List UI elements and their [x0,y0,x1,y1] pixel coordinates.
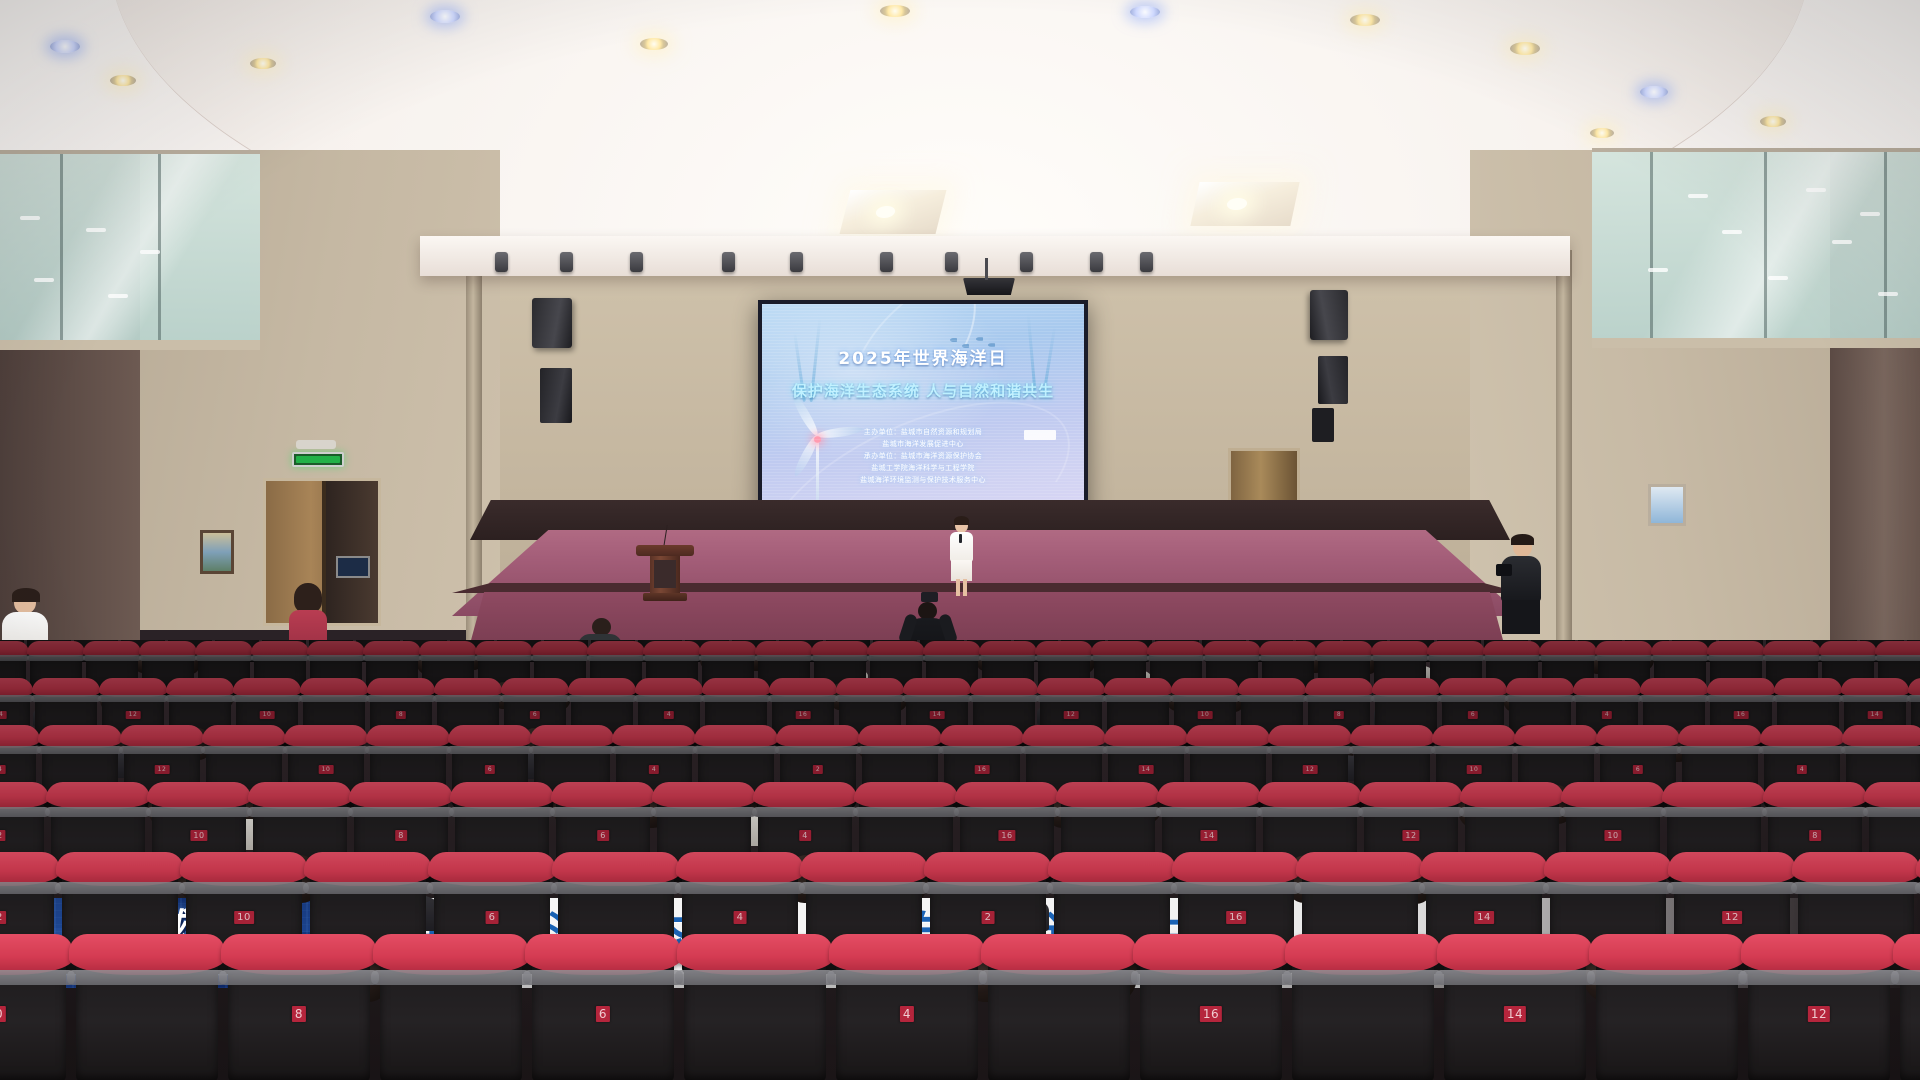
ceiling-tray-light [1190,182,1299,226]
seat-number-label: 4 [900,1006,914,1022]
screen-seaweed-decor [1027,314,1037,390]
auditorium-seat [380,946,522,1080]
screen-logo-badge [1024,430,1056,440]
seat-number-label: 12 [126,711,141,719]
auditorium-seat: 6 [532,946,674,1080]
screen-turbine-blade [790,393,821,437]
stage-fascia [420,236,1570,276]
wall-pilaster-right [1556,250,1572,650]
projector-mount [985,258,988,280]
auditorium-seat [1900,946,1920,1080]
seat-number-label: 4 [734,911,747,924]
auditorium-seat: 16 [1140,946,1282,1080]
seat-number-label: 10 [260,711,275,719]
ceiling-downlight [1760,116,1786,127]
stage-light-fixture [722,252,735,272]
seat-number-label: 14 [1139,765,1154,774]
seat-number-label: 4 [664,711,674,719]
auditorium-seat [988,946,1130,1080]
seat-number-label: 10 [1467,765,1482,774]
auditorium-seat: 12 [1748,946,1890,1080]
pa-speaker-right-lower [1312,408,1334,442]
seat-number-label: 6 [597,830,609,841]
seat-number-label: 14 [0,765,5,774]
seat-number-label: 8 [396,711,406,719]
exit-sign-icon [292,452,344,467]
auditorium-seat [1292,946,1434,1080]
ceiling-downlight [1130,6,1160,18]
seat-number-label: 10 [190,830,207,841]
auditorium-seat: 8 [228,946,370,1080]
audience-seating: 1412108641614121086416141412106421614121… [0,640,1920,1080]
screen-seaweed-decor [1043,326,1056,392]
seat-number-label: 12 [155,765,170,774]
balcony-left [0,150,260,350]
stage-edge [452,583,1522,593]
podium-base [643,593,687,601]
stage-light-fixture [630,252,643,272]
seat-number-label: 16 [1200,1006,1222,1022]
broadcast-frame: (function(){ const ceil = document.query… [0,0,1920,1080]
stage-light-fixture [790,252,803,272]
screen-wave-decor [762,361,1084,524]
camera-icon [921,592,938,602]
screen-organizer-line: 承办单位：盐城市海洋资源保护协会 [762,450,1084,462]
ceiling-downlight [880,5,910,17]
seat-number-label: 16 [796,711,811,719]
screen-wave-decor [812,304,1084,524]
screen-turbine-blade [791,433,821,478]
screen-fish-decor [950,338,957,342]
seat-number-label: 8 [395,830,407,841]
pa-speaker-right-upper [1310,290,1348,340]
seat-number-label: 12 [1064,711,1079,719]
seat-number-label: 2 [982,911,995,924]
ceiling-projector [963,278,1015,295]
seat-number-label: 6 [1633,765,1643,774]
seat-number-label: 4 [1797,765,1807,774]
auditorium-seat: 4 [836,946,978,1080]
seat-number-label: 12 [1402,830,1419,841]
wall-picture-left [200,530,234,574]
screen-title: 2025年世界海洋日 [762,344,1084,369]
screen-seaweed-decor [793,332,806,402]
seat-number-label: 4 [799,830,811,841]
screen-turbine-blade [816,425,863,440]
stage-light-fixture [495,252,508,272]
screen-fish-decor [976,337,983,341]
stage-light-fixture [880,252,893,272]
screen-wave-decor [762,304,1008,471]
seat-number-label: 16 [1734,711,1749,719]
ceiling-downlight [50,40,80,53]
screen-subtitle: 保护海洋生态系统 人与自然和谐共生 [762,380,1084,401]
auditorium-scene: (function(){ const ceil = document.query… [0,0,1920,1080]
seat-number-label: 4 [649,765,659,774]
seat-number-label: 6 [485,765,495,774]
seat-number-label: 12 [1808,1006,1830,1022]
seat-number-label: 4 [1602,711,1612,719]
screen-organizer-list: 主办单位：盐城市自然资源和规划局 盐城市海洋发展促进中心 承办单位：盐城市海洋资… [762,426,1084,486]
podium-panel [654,560,676,588]
screen-organizer-line: 盐城海洋环境监测与保护技术服务中心 [762,474,1084,486]
auditorium-seat [76,946,218,1080]
handheld-microphone [959,534,962,543]
seat-number-label: 14 [930,711,945,719]
seat-number-label: 8 [292,1006,306,1022]
camera-icon [1496,564,1512,576]
pa-speaker-left-upper [532,298,572,348]
stage-light-fixture [945,252,958,272]
ceiling-downlight [1640,86,1668,98]
attendee-right-photographer [1496,538,1546,634]
screen-fish-decor [962,344,969,348]
stage-light-fixture [1140,252,1153,272]
auditorium-seat [684,946,826,1080]
screen-organizer-line: 主办单位：盐城市自然资源和规划局 [762,426,1084,438]
screen-turbine-hub [814,436,821,443]
seat-number-label: 12 [0,830,6,841]
stage-light-fixture [1090,252,1103,272]
auditorium-seat: 10 [0,946,66,1080]
ceiling-downlight [1350,14,1380,26]
seat-number-label: 14 [1504,1006,1526,1022]
screen-organizer-line: 盐城市海洋发展促进中心 [762,438,1084,450]
ceiling-downlight [430,10,460,23]
ceiling-downlight [1510,42,1540,55]
seat-number-label: 10 [1198,711,1213,719]
projection-screen: 2025年世界海洋日 保护海洋生态系统 人与自然和谐共生 主办单位：盐城市自然资… [758,300,1088,528]
seat-number-label: 8 [1809,830,1821,841]
ceiling-downlight [110,75,136,86]
wall-monitor [336,556,370,578]
auditorium-seat [1596,946,1738,1080]
seat-number-label: 14 [0,711,6,719]
seat-number-label: 6 [530,711,540,719]
balcony-right [1592,148,1920,348]
seat-number-label: 12 [1303,765,1318,774]
seat-number-label: 12 [1722,911,1742,924]
seat-number-label: 16 [975,765,990,774]
wall-picture-right [1648,484,1686,526]
stage-speaker-person [944,518,978,600]
pa-speaker-right-mid [1318,356,1348,404]
seat-number-label: 6 [1468,711,1478,719]
projection-screen-surface: 2025年世界海洋日 保护海洋生态系统 人与自然和谐共生 主办单位：盐城市自然资… [762,304,1084,524]
ceiling-downlight [640,38,668,50]
seat-number-label: 6 [486,911,499,924]
seat-number-label: 6 [596,1006,610,1022]
seat-number-label: 10 [1604,830,1621,841]
pa-speaker-left-lower [540,368,572,423]
seat-number-label: 10 [234,911,254,924]
seat-number-label: 14 [1200,830,1217,841]
stage-light-fixture [560,252,573,272]
seat-number-label: 14 [1868,711,1883,719]
seat-number-label: 16 [1226,911,1246,924]
stage-light-fixture [1020,252,1033,272]
seat-number-label: 2 [813,765,823,774]
podium-top [636,545,694,556]
emergency-light [296,440,336,449]
seat-number-label: 14 [1474,911,1494,924]
seat-number-label: 8 [1334,711,1344,719]
screen-fish-decor [988,343,995,347]
auditorium-seat: 14 [1444,946,1586,1080]
screen-seaweed-decor [810,318,822,402]
seat-number-label: 10 [319,765,334,774]
ceiling-downlight [250,58,276,69]
screen-organizer-line: 盐城工学院海洋科学与工程学院 [762,462,1084,474]
seat-number-label: 16 [998,830,1015,841]
seat-number-label: 12 [0,911,6,924]
ceiling-tray-light [840,190,947,234]
ceiling-downlight [1590,128,1614,138]
seat-number-label: 10 [0,1006,6,1022]
